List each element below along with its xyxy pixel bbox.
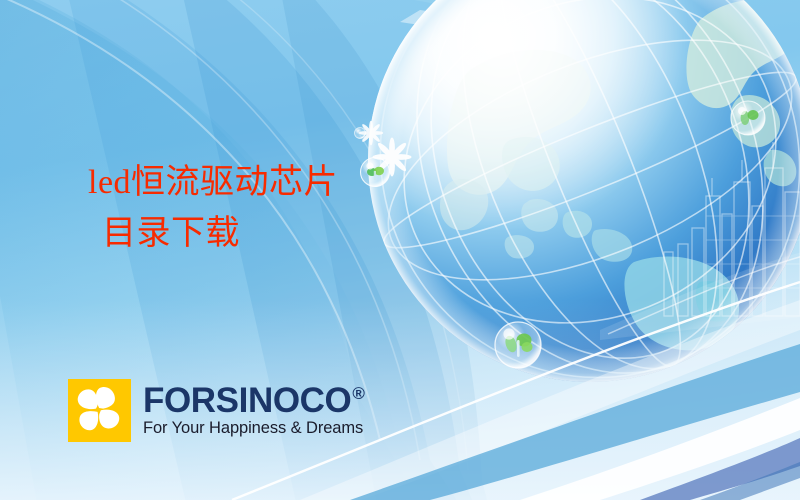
daisy-large: [373, 138, 412, 177]
promo-banner: led恒流驱动芯片 目录下载 FORSINOCO ® For Your Happ…: [0, 0, 800, 500]
logo-wordmark: FORSINOCO ®: [143, 384, 365, 418]
bubble-tiny-upper: [355, 128, 366, 139]
bubble-globe-upper: [361, 158, 390, 187]
headline-line-2: 目录下载: [88, 213, 338, 254]
headline-line-1: led恒流驱动芯片: [88, 162, 338, 203]
logo-tagline: For Your Happiness & Dreams: [143, 419, 365, 438]
forsinoco-pinwheel-mark: [68, 379, 131, 442]
bubble-sprout-lower: [495, 322, 541, 368]
globe-continents: [440, 0, 796, 353]
headline-block: led恒流驱动芯片 目录下载: [88, 162, 338, 255]
pinwheel-icon: [68, 379, 131, 442]
bubble-small-right: [731, 101, 765, 135]
globe-grid: [315, 0, 800, 441]
logo-wordmark-text: FORSINOCO: [143, 384, 351, 418]
daisy-small: [359, 121, 383, 145]
city-skyline-silhouette: [664, 142, 800, 316]
forsinoco-logo[interactable]: FORSINOCO ® For Your Happiness & Dreams: [68, 379, 365, 442]
logo-text-block: FORSINOCO ® For Your Happiness & Dreams: [143, 379, 365, 438]
world-globe: [315, 0, 800, 441]
registered-trademark-icon: ®: [352, 385, 364, 402]
swoosh-top-right: [360, 0, 800, 245]
